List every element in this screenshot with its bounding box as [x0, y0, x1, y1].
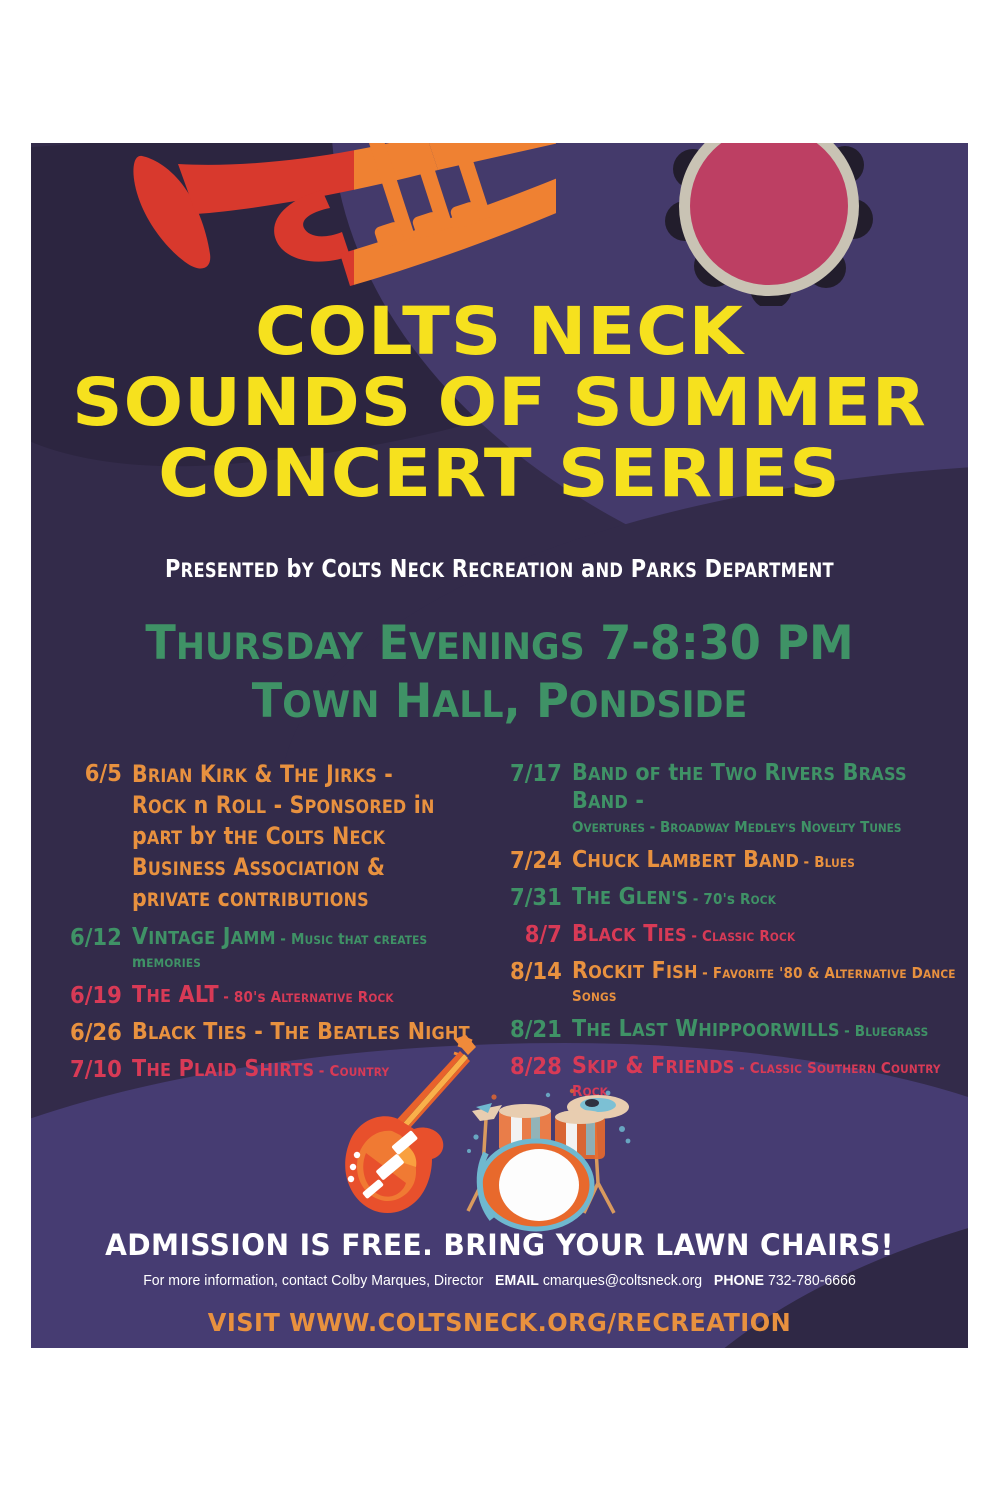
tambourine-icon — [663, 143, 883, 306]
phone-label: PHONE — [714, 1272, 764, 1289]
band-name: BRIAN KIRK & THE JIRKS - — [132, 760, 456, 791]
band-name: THE PLAID SHIRTS — [132, 1056, 314, 1082]
schedule-date: 7/24 — [488, 847, 572, 875]
schedule-date: 7/17 — [488, 760, 572, 788]
event-time: THURSDAY EVENINGS 7-8:30 PM — [54, 616, 944, 674]
band-genre: - BLUEGRASS — [844, 1022, 928, 1040]
schedule-date: 7/31 — [488, 884, 572, 912]
schedule-date: 6/19 — [50, 982, 132, 1010]
footer-contact-line: For more information, contact Colby Marq… — [59, 1272, 940, 1289]
schedule-row: 7/31 THE GLEN'S - 70's ROCK — [481, 884, 961, 912]
schedule-entry: CHUCK LAMBERT BAND - BLUES — [572, 847, 961, 875]
schedule-row: 7/24 CHUCK LAMBERT BAND - BLUES — [481, 847, 961, 875]
schedule-entry: VINTAGE JAMM - MUSIC tHAT cREATES mEMORI… — [132, 924, 473, 973]
band-genre: OVERTURES - BROADWAY MEDLEY'S NOVELTY TU… — [572, 817, 961, 838]
title-line-2: SOUNDS OF SUMMER — [31, 367, 968, 438]
bass-drum — [480, 1141, 592, 1229]
email-address[interactable]: cmarques@coltsneck.org — [543, 1272, 702, 1289]
schedule-row: 8/14 ROCKIT FISH - FAVORITE '80 & ALTERN… — [481, 958, 961, 1007]
band-name: VINTAGE JAMM — [132, 924, 276, 950]
band-name: CHUCK LAMBERT BAND — [572, 847, 799, 873]
band-genre: - 70's ROCK — [693, 890, 776, 908]
trumpet-icon — [126, 143, 556, 303]
phone-number[interactable]: 732-780-6666 — [768, 1272, 856, 1289]
presented-by-text: PRESENTED bY COLTS NECK RECREATION aND P… — [64, 554, 935, 583]
schedule-row: 8/7 BLACK TIES - CLASSIC ROCK — [481, 921, 961, 949]
electric-guitar-icon — [345, 1035, 476, 1213]
footer-headline: ADMISSION IS FREE. BRING YOUR LAWN CHAIR… — [45, 1228, 954, 1262]
schedule-entry: THE GLEN'S - 70's ROCK — [572, 884, 961, 912]
title-line-1: COLTS NECK — [31, 296, 968, 367]
band-name: BLACK TIES — [572, 921, 687, 947]
band-name: THE ALT — [132, 982, 219, 1008]
schedule-date: 6/5 — [50, 760, 132, 788]
schedule-row: 6/5 BRIAN KIRK & THE JIRKS - ROCK n ROLL… — [43, 760, 473, 915]
drum-kit-icon — [467, 1089, 630, 1233]
schedule-date: 8/7 — [488, 921, 572, 949]
schedule-entry: THE ALT - 80's ALTERNATIVE ROCK — [132, 982, 473, 1010]
schedule-date: 6/26 — [50, 1019, 132, 1047]
schedule-entry: BLACK TIES - CLASSIC ROCK — [572, 921, 961, 949]
schedule-entry: ROCKIT FISH - FAVORITE '80 & ALTERNATIVE… — [572, 958, 961, 1007]
schedule-entry: BRIAN KIRK & THE JIRKS - ROCK n ROLL - S… — [132, 760, 473, 915]
band-genre: ROCK n ROLL - SPONSORED iN pART bY tHE C… — [132, 791, 456, 915]
email-label: EMAIL — [495, 1272, 539, 1289]
schedule-row: 7/17 BAND oF tHE TWO RIVERS BRASS BAND -… — [481, 760, 961, 838]
schedule-entry: BAND oF tHE TWO RIVERS BRASS BAND - OVER… — [572, 760, 961, 838]
band-name: BAND oF tHE TWO RIVERS BRASS BAND - — [572, 760, 907, 814]
event-location: TOWN HALL, PONDSIDE — [54, 674, 944, 732]
schedule-date: 6/12 — [50, 924, 132, 952]
band-name: THE GLEN'S — [572, 884, 688, 910]
event-time-location: THURSDAY EVENINGS 7-8:30 PM TOWN HALL, P… — [54, 616, 944, 732]
schedule-date: 8/14 — [488, 958, 572, 986]
website-link[interactable]: VISIT WWW.COLTSNECK.ORG/RECREATION — [50, 1308, 950, 1337]
schedule-date: 7/10 — [50, 1056, 132, 1084]
band-genre: - 80's ALTERNATIVE ROCK — [223, 988, 394, 1006]
page-title: COLTS NECK SOUNDS OF SUMMER CONCERT SERI… — [31, 296, 968, 509]
title-line-3: CONCERT SERIES — [31, 438, 968, 509]
band-genre: - BLUES — [804, 853, 856, 871]
band-name: ROCKIT FISH — [572, 958, 698, 984]
band-genre: - CLASSIC ROCK — [691, 927, 795, 945]
contact-intro: For more information, contact Colby Marq… — [143, 1272, 483, 1289]
guitar-and-drums-illustration — [336, 1033, 666, 1233]
schedule-row: 6/12 VINTAGE JAMM - MUSIC tHAT cREATES m… — [43, 924, 473, 973]
concert-poster: COLTS NECK SOUNDS OF SUMMER CONCERT SERI… — [31, 143, 968, 1348]
schedule-row: 6/19 THE ALT - 80's ALTERNATIVE ROCK — [43, 982, 473, 1010]
